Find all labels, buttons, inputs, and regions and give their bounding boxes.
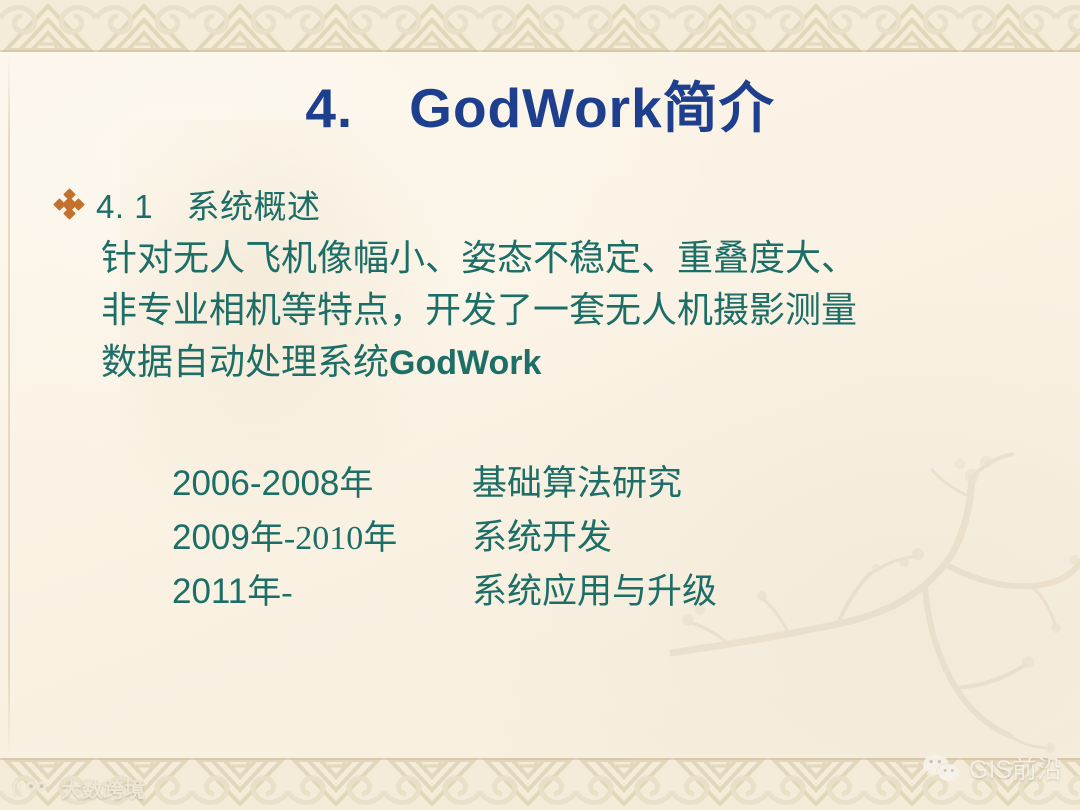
timeline-activity: 基础算法研究	[472, 455, 682, 506]
section-paragraph: 针对无人飞机像幅小、姿态不稳定、重叠度大、 非专业相机等特点，开发了一套无人机摄…	[101, 232, 1006, 389]
paragraph-line-2: 非专业相机等特点，开发了一套无人机摄影测量	[101, 284, 1006, 336]
dashukuajing-logo-icon	[12, 778, 54, 800]
timeline-period-mid: 年-2010	[250, 520, 363, 557]
diamond-cluster-bullet-icon	[56, 191, 82, 217]
wechat-account-label: GIS前沿	[969, 750, 1062, 786]
dashukuajing-watermark: 大数跨境	[12, 774, 145, 804]
timeline-row: 2011年- 系统应用与升级	[172, 563, 717, 617]
timeline-period-suffix: 年-	[247, 574, 292, 611]
wechat-account-watermark: GIS前沿	[922, 750, 1062, 786]
top-decorative-border	[0, 0, 1080, 52]
timeline-period: 2011年-	[172, 564, 472, 613]
presentation-slide: 4. GodWork简介 4. 1 系统概述 针对无人飞机像幅小、姿态不稳定、重…	[0, 0, 1080, 810]
section-heading-label: 4. 1 系统概述	[96, 180, 321, 228]
bottom-decorative-border	[0, 758, 1080, 810]
paragraph-line-1: 针对无人飞机像幅小、姿态不稳定、重叠度大、	[101, 232, 1006, 284]
timeline-period-years: 2009	[172, 518, 250, 557]
timeline-row: 2009年-2010年 系统开发	[172, 509, 717, 563]
timeline-period-suffix: 年	[339, 466, 373, 503]
paragraph-line-3-cn: 数据自动处理系统	[101, 342, 389, 382]
timeline-period-suffix: 年	[363, 520, 397, 557]
timeline-period: 2006-2008年	[172, 456, 472, 505]
dashukuajing-label: 大数跨境	[61, 774, 145, 804]
timeline-period-years: 2006-2008	[172, 464, 339, 503]
project-timeline: 2006-2008年 基础算法研究 2009年-2010年 系统开发 2011年…	[172, 455, 717, 617]
wechat-icon	[922, 753, 960, 783]
bottom-border-edge-line	[0, 758, 1080, 760]
timeline-period: 2009年-2010年	[172, 510, 472, 559]
timeline-row: 2006-2008年 基础算法研究	[172, 455, 717, 509]
timeline-period-years: 2011	[172, 572, 247, 611]
section-heading-row: 4. 1 系统概述	[56, 180, 321, 228]
paragraph-line-3: 数据自动处理系统GodWork	[101, 336, 1006, 389]
timeline-activity: 系统开发	[472, 509, 612, 560]
timeline-activity: 系统应用与升级	[472, 563, 717, 614]
slide-content: 4. GodWork简介 4. 1 系统概述 针对无人飞机像幅小、姿态不稳定、重…	[0, 52, 1080, 758]
product-name-godwork: GodWork	[389, 344, 541, 382]
slide-title: 4. GodWork简介	[0, 80, 1080, 138]
